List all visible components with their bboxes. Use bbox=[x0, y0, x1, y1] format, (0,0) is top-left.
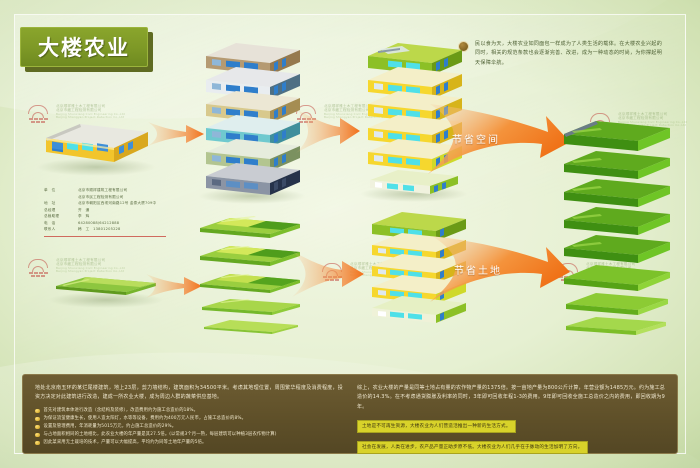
bullet-dot-icon bbox=[35, 417, 40, 422]
contact-table: 单 位 北京市顺祥建筑工程有限公司 北京市民工程检测有限公司 地 址 北京市朝阳… bbox=[44, 188, 156, 234]
highlight-callout-1: 土地是不可再生资源，大楼农业为人们营造活推出一种新的生活方式。 bbox=[357, 420, 516, 433]
contact-row: 总经理 齐 通 bbox=[44, 208, 156, 215]
bottom-summary-panel: 地处北京南五环的某烂尾楼建筑，地上23层，剪力墙结构，建筑面积为34500平米。… bbox=[22, 374, 678, 454]
contact-label: 联系人 bbox=[44, 227, 78, 234]
field-stack-slab-5 bbox=[200, 316, 306, 340]
contact-row: 单 位 北京市顺祥建筑工程有限公司 bbox=[44, 188, 156, 195]
red-arch-logo-icon bbox=[26, 258, 52, 278]
list-item: 为保证流萤健康生长，使用人造太阳灯，水等等设备，费用约为400万元人民币，占施工… bbox=[35, 416, 343, 422]
contact-block: 单 位 北京市顺祥建筑工程有限公司 北京市民工程检测有限公司 地 址 北京市朝阳… bbox=[44, 188, 184, 237]
bullet-dot-icon bbox=[35, 425, 40, 430]
bottom-bullet-list: 首先对建筑本体进行改造（含结构及装修），改造费用约为施工总造价的18%。 为保证… bbox=[35, 408, 343, 447]
contact-label: 地 址 bbox=[44, 201, 78, 208]
bullet-text: 与占地面积相同的土地相比，此农业大楼的年产量是其27.5倍。(以常规3个月一熟，… bbox=[44, 432, 277, 438]
note-text: 民以食为天，大楼农业如同面包一样成为了人类生活的载体。在大楼农业兴起的同时，相关… bbox=[475, 40, 663, 68]
list-item: 首先对建筑本体进行改造（含结构及装修），改造费用约为施工总造价的18%。 bbox=[35, 408, 343, 414]
highlight-callout-2: 社会在发展，人类在进步，农产品产量正助步原不低。大楼农业为人们几乎在于脉动的生活… bbox=[357, 441, 588, 454]
contact-value: 齐 通 bbox=[78, 208, 156, 215]
bullet-text: 为保证流萤健康生长，使用人造太阳灯，水等等设备，费用约为400万元人民币，占施工… bbox=[44, 416, 247, 422]
contact-value: 北京市朝阳区西坝河南路12号 金泰大厦709中 bbox=[78, 201, 156, 208]
contact-row: 联系人 韩 工 13801205228 bbox=[44, 227, 156, 234]
arrow-label-save-space: 节省空间 bbox=[452, 131, 500, 146]
bottom-right-paragraph: 综上，农业大楼的产量是同等土地占有量的农作物产量的1375倍。按一亩地产量为80… bbox=[357, 384, 665, 412]
bullet-text: 首先对建筑本体进行改造（含结构及装修），改造费用约为施工总造价的18%。 bbox=[44, 408, 199, 414]
contact-label: 单 位 bbox=[44, 188, 78, 195]
note-bubble: 民以食为天，大楼农业如同面包一样成为了人类生活的载体。在大楼农业兴起的同时，相关… bbox=[458, 40, 663, 68]
contact-row: 总裁助理 李 辉 bbox=[44, 214, 156, 221]
bullet-text: 设置及管理费用，年消耗量为5015万元，约占施工总造价的29%。 bbox=[44, 424, 177, 430]
bottom-left-paragraph: 地处北京南五环的某烂尾楼建筑，地上23层，剪力墙结构，建筑面积为34500平米。… bbox=[35, 384, 343, 403]
title-text: 大楼农业 bbox=[38, 32, 130, 62]
bottom-left-column: 地处北京南五环的某烂尾楼建筑，地上23层，剪力墙结构，建筑面积为34500平米。… bbox=[35, 384, 343, 444]
bottom-right-column: 综上，农业大楼的产量是同等土地占有量的农作物产量的1375倍。按一亩地产量为80… bbox=[357, 384, 665, 444]
contact-value: 韩 工 13801205228 bbox=[78, 227, 156, 234]
poster-canvas: 大楼农业 民以食为天，大楼农业如同面包一样成为了人类生活的载体。在大楼农业兴起的… bbox=[0, 0, 700, 468]
contact-value: 北京市顺祥建筑工程有限公司 bbox=[78, 188, 156, 195]
arrow-field-to-field-stack bbox=[146, 272, 202, 304]
arrow-tower-to-green-tower bbox=[296, 108, 360, 158]
poster-title: 大楼农业 bbox=[20, 27, 148, 67]
arrow-label-save-land: 节省土地 bbox=[454, 262, 502, 277]
arrow-field-stack-to-building-stack bbox=[292, 250, 364, 302]
contact-divider bbox=[44, 236, 166, 237]
bullet-text: 因此菜采用无土栽培的技术，产量可以大幅提高，平均约为同等土地年产量的5倍。 bbox=[44, 440, 207, 446]
building-single-yellow bbox=[40, 118, 152, 166]
bullet-dot-icon bbox=[35, 433, 40, 438]
list-item: 设置及管理费用，年消耗量为5015万元，约占施工总造价的29%。 bbox=[35, 424, 343, 430]
contact-value: 李 辉 bbox=[78, 214, 156, 221]
bullet-dot-icon bbox=[35, 441, 40, 446]
title-box: 大楼农业 bbox=[20, 27, 148, 67]
list-item: 与占地面积相同的土地相比，此农业大楼的年产量是其27.5倍。(以常规3个月一熟，… bbox=[35, 432, 343, 438]
bullet-dot-icon bbox=[35, 409, 40, 414]
green-result-slab-8 bbox=[560, 314, 674, 346]
list-item: 因此菜采用无土栽培的技术，产量可以大幅提高，平均约为同等土地年产量的5倍。 bbox=[35, 440, 343, 446]
contact-label: 总裁助理 bbox=[44, 214, 78, 221]
contact-row: 地 址 北京市朝阳区西坝河南路12号 金泰大厦709中 bbox=[44, 201, 156, 208]
building-stack-colorful bbox=[196, 38, 310, 196]
